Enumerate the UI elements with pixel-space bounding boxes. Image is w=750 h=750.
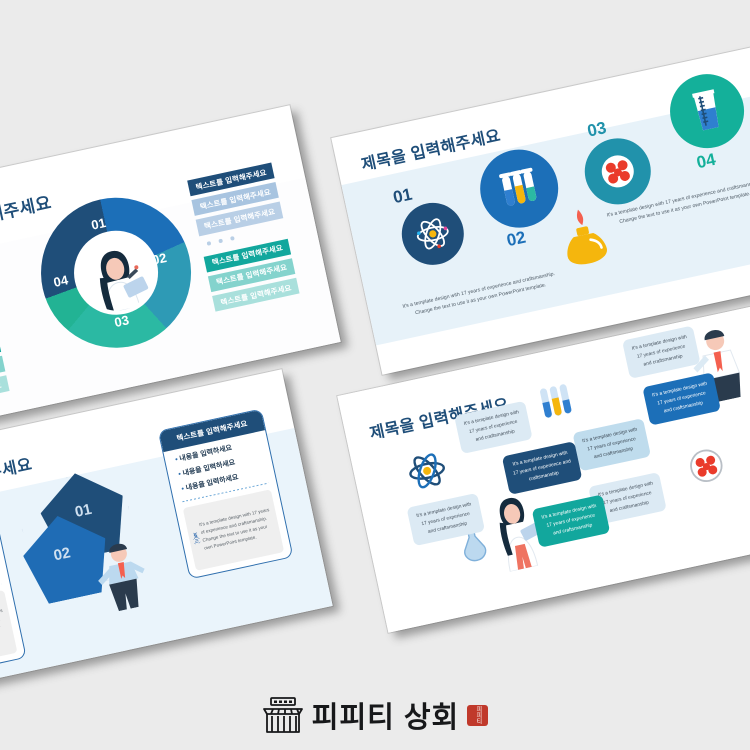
card-note-text: It's a template design with 17 years of … xyxy=(0,606,10,653)
donut-label-01: 01 xyxy=(90,215,107,233)
pentagon-label-02: 02 xyxy=(52,544,72,564)
card-note: It's a template design with 17 years of … xyxy=(183,489,284,571)
presentation-mockup-stage: 제목을 입력해주세요 텍스트를 입력해주세요 텍스트를 입력해주세요 텍스트를 … xyxy=(0,0,750,750)
circle-number-01: 01 xyxy=(391,185,414,209)
card-note-text: It's a template design with 17 years of … xyxy=(198,506,277,553)
cells-icon xyxy=(594,148,642,196)
circle-number-03: 03 xyxy=(586,118,609,142)
storefront-icon xyxy=(262,696,304,734)
donut-label-04: 04 xyxy=(52,272,69,290)
logo-text: 피피티 상회 xyxy=(312,694,459,736)
circle-number-04: 04 xyxy=(695,150,718,174)
logo-seal: 피피티 xyxy=(467,705,488,726)
cycle-donut-chart: 01 02 03 04 xyxy=(27,184,205,362)
test-tubes-icon xyxy=(536,381,577,423)
atom-icon xyxy=(411,212,454,255)
businessman-figure xyxy=(87,539,156,615)
donut-label-02: 02 xyxy=(151,250,168,268)
test-tubes-icon xyxy=(492,161,547,216)
pentagon-label-01: 01 xyxy=(73,501,93,521)
slide-two-card-pentagon[interactable]: 제목을 입력해주세요 텍스트를 입력해주세요 내용을 입력하세요 내용을 입력하… xyxy=(0,369,333,696)
brand-logo: 피피티 상회 피피티 xyxy=(0,694,750,736)
circle-number-02: 02 xyxy=(505,228,528,252)
slide-cycle-diagram[interactable]: 제목을 입력해주세요 텍스트를 입력해주세요 텍스트를 입력해주세요 텍스트를 … xyxy=(0,105,341,432)
cells-icon xyxy=(685,444,728,487)
atom-icon xyxy=(403,447,451,495)
beaker-icon xyxy=(683,85,731,136)
donut-label-03: 03 xyxy=(113,312,130,330)
